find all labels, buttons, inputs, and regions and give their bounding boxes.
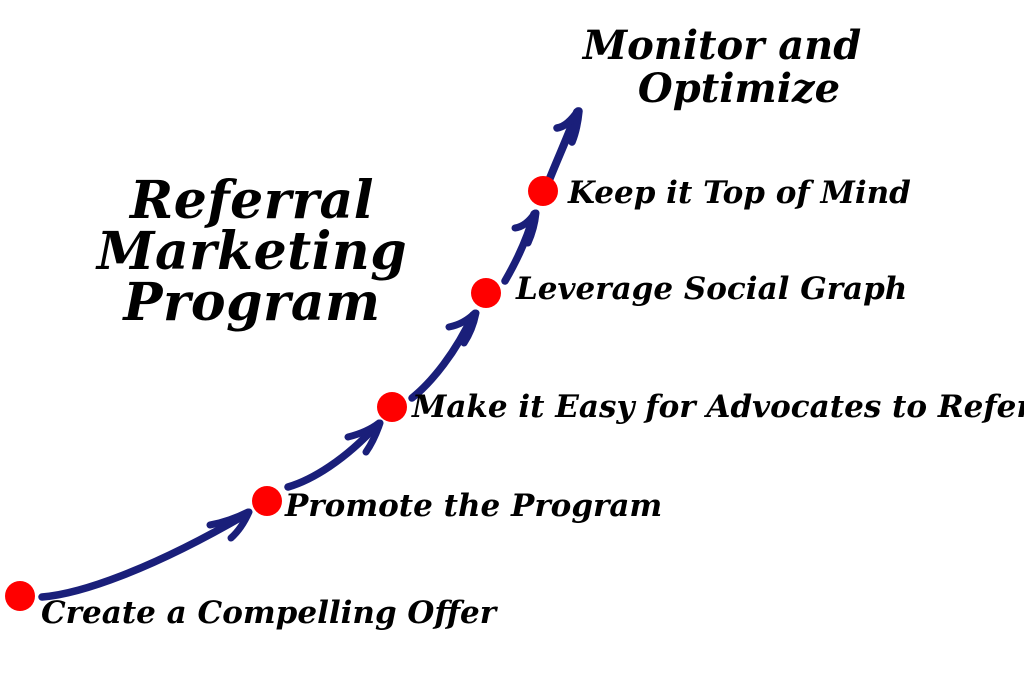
step-label-create-offer: Create a Compelling Offer — [41, 598, 496, 629]
milestone-dot-5[interactable] — [528, 176, 558, 206]
arrow-step-2-to-3 — [288, 423, 380, 487]
step-label-keep-top-of-mind: Keep it Top of Mind — [568, 178, 911, 209]
arrow-step-5-to-final — [550, 111, 579, 178]
program-title-line-3: Program — [72, 278, 432, 329]
program-title: Referral Marketing Program — [72, 176, 432, 329]
milestone-dot-2[interactable] — [252, 486, 282, 516]
milestone-dot-3[interactable] — [377, 392, 407, 422]
step-label-promote-program: Promote the Program — [285, 491, 662, 522]
referral-marketing-diagram: Referral Marketing Program Create a Comp… — [0, 0, 1024, 683]
step-label-leverage-social-graph: Leverage Social Graph — [516, 274, 907, 305]
final-outcome-headline: Monitor and Optimize — [552, 24, 892, 110]
milestone-dot-1[interactable] — [5, 581, 35, 611]
program-title-line-1: Referral — [72, 176, 432, 227]
arrow-step-1-to-2 — [42, 512, 249, 597]
program-title-line-2: Marketing — [72, 227, 432, 278]
final-headline-line-2: Optimize — [552, 67, 892, 110]
step-label-make-it-easy: Make it Easy for Advocates to Refer — [412, 392, 1024, 423]
milestone-dot-4[interactable] — [471, 278, 501, 308]
final-headline-line-1: Monitor and — [552, 24, 892, 67]
